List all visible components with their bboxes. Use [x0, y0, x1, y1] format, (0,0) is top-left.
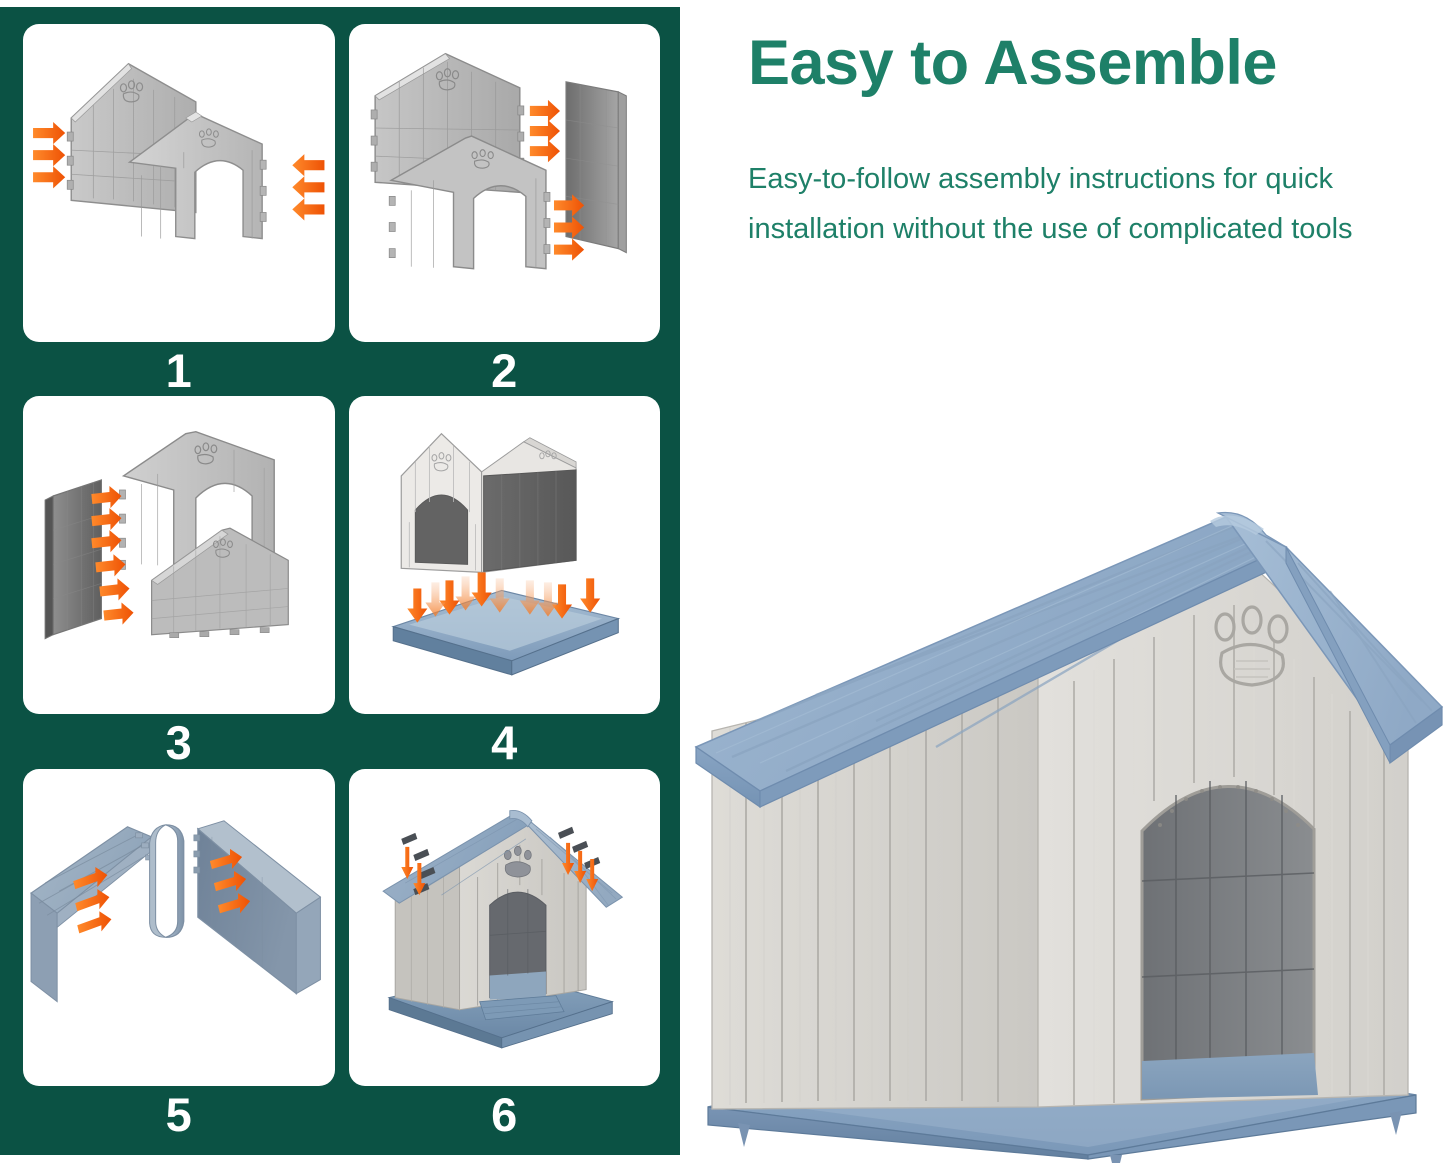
- finished-dog-house-icon: [349, 769, 661, 1087]
- step-4-number: 4: [349, 714, 661, 769]
- step-4-card: [349, 396, 661, 714]
- assembly-step-5: 5: [23, 769, 335, 1141]
- step-2-number: 2: [349, 342, 661, 397]
- step-5-number: 5: [23, 1086, 335, 1141]
- assembly-step-6: 6: [349, 769, 661, 1141]
- second-side-panel-attach-icon: [23, 396, 335, 714]
- assembly-step-2: 2: [349, 24, 661, 396]
- side-panel-attach-icon: [349, 24, 661, 342]
- step-2-card: [349, 24, 661, 342]
- step-5-card: [23, 769, 335, 1087]
- roof-panels-ridge-icon: [23, 769, 335, 1087]
- step-1-card: [23, 24, 335, 342]
- assembly-steps-panel: 1: [0, 7, 680, 1155]
- step-6-number: 6: [349, 1086, 661, 1141]
- two-wall-panels-joining-icon: [23, 24, 335, 342]
- assembly-steps-grid: 1: [0, 7, 680, 1155]
- page-title: Easy to Assemble: [748, 28, 1408, 99]
- product-hero-image: [690, 495, 1445, 1163]
- page-description: Easy-to-follow assembly instructions for…: [748, 155, 1413, 255]
- assembly-step-4: 4: [349, 396, 661, 768]
- step-1-number: 1: [23, 342, 335, 397]
- assembly-step-3: 3: [23, 396, 335, 768]
- arched-doorway: [1142, 781, 1318, 1099]
- step-3-number: 3: [23, 714, 335, 769]
- step-3-card: [23, 396, 335, 714]
- step-6-card: [349, 769, 661, 1087]
- plastic-dog-house-illustration: [690, 495, 1445, 1163]
- walls-onto-base-icon: [349, 396, 661, 714]
- assembly-step-1: 1: [23, 24, 335, 396]
